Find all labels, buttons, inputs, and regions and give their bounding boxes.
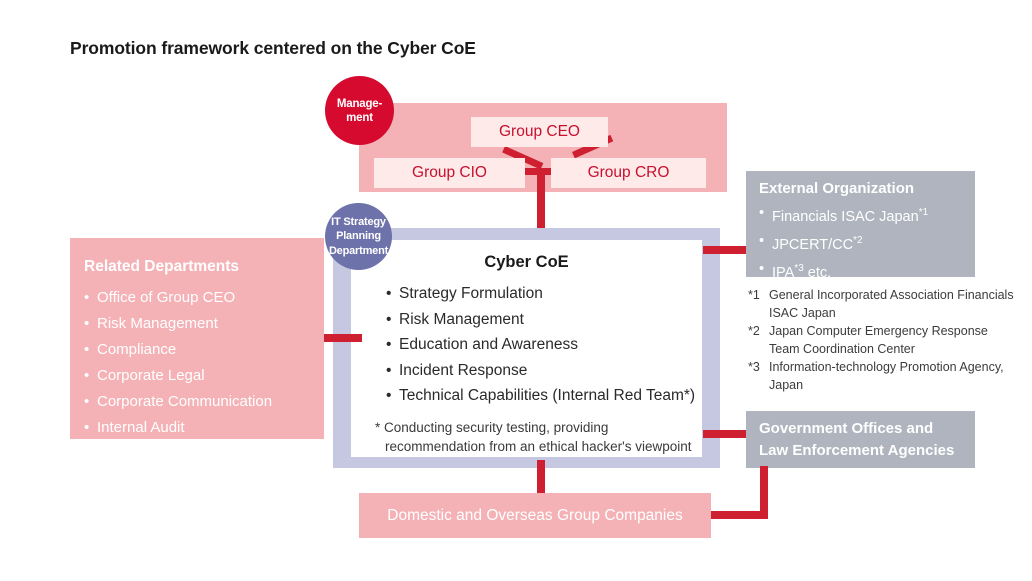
management-circle-line2: ment [346, 111, 373, 125]
footnote-marker: *3 [794, 263, 803, 274]
cyber-coe-list: Strategy Formulation Risk Management Edu… [351, 281, 702, 409]
list-item: Education and Awareness [386, 332, 702, 358]
footnote-text: Japan Computer Emergency Response Team C… [769, 323, 1020, 358]
government-offices-line2: Law Enforcement Agencies [759, 440, 975, 462]
external-organization-list: Financials ISAC Japan*1 JPCERT/CC*2 IPA*… [746, 201, 975, 284]
page-title: Promotion framework centered on the Cybe… [70, 38, 476, 59]
footnotes-block: *1 General Incorporated Association Fina… [748, 287, 1020, 395]
footnote-text: General Incorporated Association Financi… [769, 287, 1020, 322]
bottom-bar-group-companies: Domestic and Overseas Group Companies [359, 493, 711, 538]
connector-coe-to-bottom-bar [537, 460, 545, 496]
footnote-mark: *1 [748, 287, 769, 322]
government-offices-box: Government Offices and Law Enforcement A… [746, 411, 975, 468]
connector-government-offices-to-bottom [760, 466, 768, 516]
footnote-marker: *2 [853, 235, 862, 246]
list-item-suffix: etc. [804, 264, 831, 280]
footnote-marker: *1 [919, 207, 928, 218]
list-item: Technical Capabilities (Internal Red Tea… [386, 383, 702, 409]
list-item: IPA*3 etc. [759, 257, 975, 285]
footnote-row: *3 Information-technology Promotion Agen… [748, 359, 1020, 394]
footnote-text: Information-technology Promotion Agency,… [769, 359, 1020, 394]
footnote-row: *2 Japan Computer Emergency Response Tea… [748, 323, 1020, 358]
connector-bottom-horizontal [708, 511, 768, 519]
connector-coe-to-government-offices [703, 430, 751, 438]
related-departments-list: Office of Group CEO Risk Management Comp… [70, 285, 324, 441]
list-item: Risk Management [84, 311, 324, 337]
list-item-text: JPCERT/CC [772, 237, 853, 253]
list-item: Internal Audit [84, 415, 324, 441]
footnote-row: *1 General Incorporated Association Fina… [748, 287, 1020, 322]
footnote-mark: *3 [748, 359, 769, 394]
connector-coe-to-external-organization [703, 246, 751, 254]
related-departments-title: Related Departments [84, 258, 324, 276]
it-strategy-planning-circle[interactable]: IT Strategy Planning Department [325, 203, 392, 270]
cyber-coe-footnote: * Conducting security testing, providing… [351, 418, 702, 456]
management-circle-line1: Manage- [337, 97, 382, 111]
footnote-mark: *2 [748, 323, 769, 358]
list-item: Financials ISAC Japan*1 [759, 201, 975, 229]
box-group-ceo[interactable]: Group CEO [471, 117, 608, 147]
box-group-cro[interactable]: Group CRO [551, 158, 706, 188]
cyber-coe-content: Cyber CoE Strategy Formulation Risk Mana… [351, 240, 702, 457]
list-item: Incident Response [386, 358, 702, 384]
diagram-canvas: Promotion framework centered on the Cybe… [0, 0, 1032, 581]
bottom-bar-label: Domestic and Overseas Group Companies [359, 493, 711, 538]
external-organization-title: External Organization [759, 180, 975, 197]
government-offices-line1: Government Offices and [759, 411, 975, 440]
list-item: Corporate Communication [84, 389, 324, 415]
list-item: Risk Management [386, 307, 702, 333]
itsp-line3: Department [329, 244, 388, 259]
list-item: JPCERT/CC*2 [759, 229, 975, 257]
list-item-text: IPA [772, 264, 794, 280]
list-item: Strategy Formulation [386, 281, 702, 307]
external-organization-box: External Organization Financials ISAC Ja… [746, 171, 975, 277]
list-item: Office of Group CEO [84, 285, 324, 311]
list-item-text: Financials ISAC Japan [772, 209, 919, 225]
management-circle[interactable]: Manage- ment [325, 76, 394, 145]
box-group-cio[interactable]: Group CIO [374, 158, 525, 188]
list-item: Compliance [84, 337, 324, 363]
list-item: Corporate Legal [84, 363, 324, 389]
related-departments-box: Related Departments Office of Group CEO … [70, 238, 324, 439]
cyber-coe-title: Cyber CoE [351, 253, 702, 272]
itsp-line2: Planning [336, 229, 381, 244]
itsp-line1: IT Strategy [331, 215, 386, 230]
